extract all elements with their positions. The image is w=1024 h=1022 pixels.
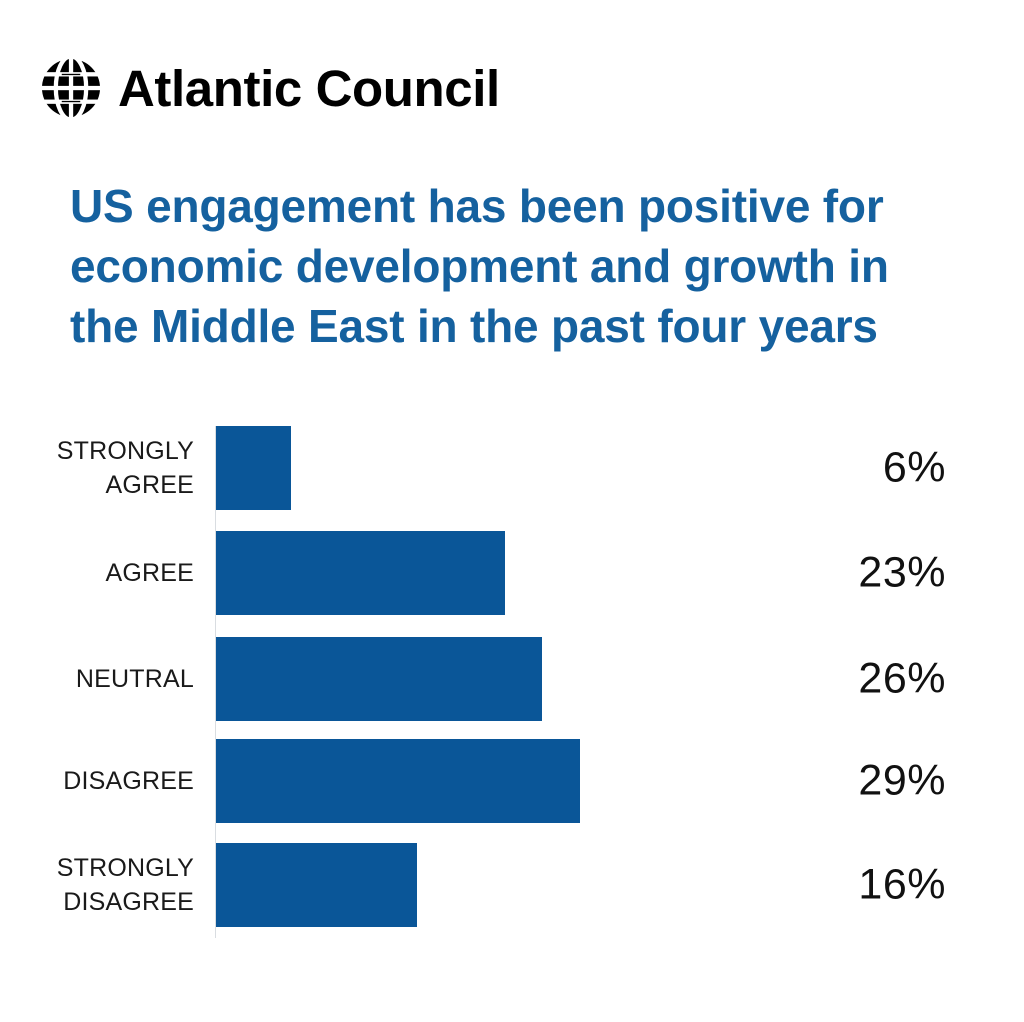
chart-page: Atlantic Council US engagement has been …	[0, 0, 1024, 1022]
bar-row: STRONGLY DISAGREE 16%	[0, 843, 1024, 927]
bar-row: NEUTRAL 26%	[0, 637, 1024, 721]
value-label: 29%	[760, 757, 946, 806]
headline-line-3: the Middle East in the past four years	[70, 296, 960, 356]
value-label: 6%	[760, 444, 946, 493]
globe-icon	[38, 55, 104, 121]
bar-row: STRONGLY AGREE 6%	[0, 426, 1024, 510]
category-label: AGREE	[0, 556, 194, 590]
bar	[216, 426, 291, 510]
category-label: STRONGLY DISAGREE	[0, 851, 194, 919]
brand-name: Atlantic Council	[118, 63, 500, 114]
bar	[216, 843, 417, 927]
category-label: STRONGLY AGREE	[0, 434, 194, 502]
value-label: 16%	[760, 861, 946, 910]
bar-row: DISAGREE 29%	[0, 739, 1024, 823]
category-label: NEUTRAL	[0, 662, 194, 696]
value-label: 23%	[760, 549, 946, 598]
category-label: DISAGREE	[0, 764, 194, 798]
headline-line-1: US engagement has been positive for	[70, 176, 960, 236]
bar-chart: STRONGLY AGREE 6% AGREE 23% NEUTRAL 26% …	[0, 415, 1024, 935]
headline-line-2: economic development and growth in	[70, 236, 960, 296]
page-title: US engagement has been positive for econ…	[70, 176, 960, 356]
bar	[216, 739, 580, 823]
bar	[216, 531, 505, 615]
bar-row: AGREE 23%	[0, 531, 1024, 615]
value-label: 26%	[760, 655, 946, 704]
brand-header: Atlantic Council	[38, 48, 500, 128]
bar	[216, 637, 542, 721]
